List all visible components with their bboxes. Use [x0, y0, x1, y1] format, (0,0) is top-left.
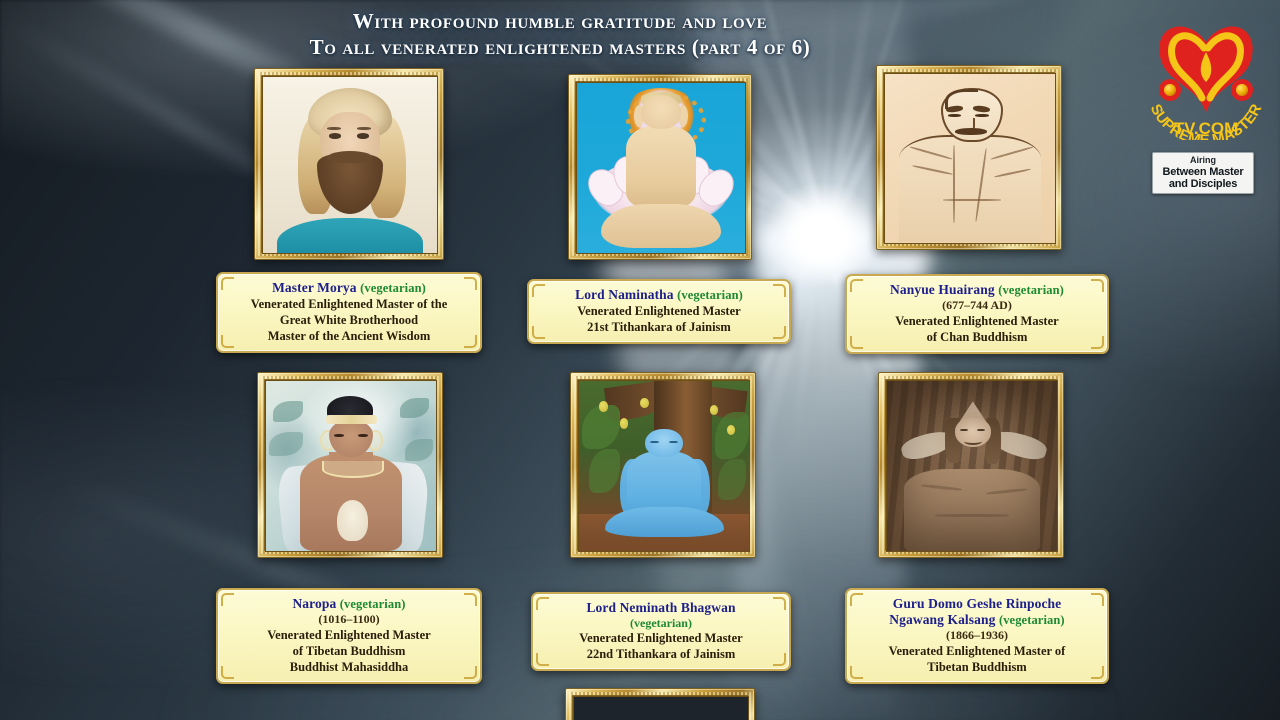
master-desc-line: Venerated Enlightened Master — [853, 314, 1101, 329]
master-desc-line: Tibetan Buddhism — [853, 660, 1101, 675]
partial-portrait-frame-next-row — [565, 688, 755, 720]
portrait-guru-domo-geshe-rinpoche — [886, 380, 1058, 552]
airing-show-line-2: and Disciples — [1155, 178, 1251, 190]
master-card-lord-naminatha[interactable] — [568, 74, 752, 260]
vegetarian-tag: (vegetarian) — [539, 616, 783, 630]
master-desc-line: Venerated Enlightened Master — [535, 304, 783, 319]
caption-plaque-nanyue-huairang: Nanyue Huairang (vegetarian) (677–744 AD… — [845, 274, 1109, 354]
master-card-naropa[interactable] — [257, 372, 443, 558]
portrait-frame-lord-naminatha — [568, 74, 752, 260]
caption-plaque-lord-neminath-bhagwan: Lord Neminath Bhagwan (vegetarian) Vener… — [531, 592, 791, 671]
master-name-lord-naminatha: Lord Naminatha (vegetarian) — [535, 287, 783, 303]
master-card-lord-neminath-bhagwan[interactable] — [570, 372, 756, 558]
master-desc-line: Venerated Enlightened Master of the — [224, 297, 474, 312]
master-card-nanyue-huairang[interactable] — [876, 65, 1062, 250]
master-card-guru-domo-geshe-rinpoche[interactable] — [878, 372, 1064, 558]
master-desc-line: Venerated Enlightened Master of — [853, 644, 1101, 659]
master-name-master-morya: Master Morya (vegetarian) — [224, 280, 474, 296]
logo-domain-text: TV.COM — [1174, 119, 1239, 138]
airing-show-line-1: Between Master — [1155, 166, 1251, 178]
caption-plaque-guru-domo-geshe-rinpoche: Guru Domo Geshe Rinpoche Ngawang Kalsang… — [845, 588, 1109, 684]
caption-plaque-naropa: Naropa (vegetarian) (1016–1100) Venerate… — [216, 588, 482, 684]
master-dates: (1016–1100) — [224, 612, 474, 627]
airing-badge: Airing Between Master and Disciples — [1152, 152, 1254, 194]
master-desc-line: of Chan Buddhism — [853, 330, 1101, 345]
broadcast-screen: With profound humble gratitude and Love … — [0, 0, 1280, 720]
portrait-frame-naropa — [257, 372, 443, 558]
master-desc-line: Venerated Enlightened Master — [224, 628, 474, 643]
page-title: With profound humble gratitude and Love … — [0, 8, 1120, 60]
airing-label: Airing — [1155, 155, 1251, 166]
portrait-lord-neminath-bhagwan — [578, 380, 750, 552]
master-name-naropa: Naropa (vegetarian) — [224, 596, 474, 612]
master-dates: (1866–1936) — [853, 628, 1101, 643]
master-card-master-morya[interactable] — [254, 68, 444, 260]
vegetarian-tag: (vegetarian) — [340, 597, 406, 611]
master-name-guru-domo-geshe-rinpoche: Guru Domo Geshe Rinpoche — [853, 596, 1101, 612]
portrait-master-morya — [262, 76, 438, 254]
caption-plaque-lord-naminatha: Lord Naminatha (vegetarian) Venerated En… — [527, 279, 791, 344]
title-line-2: to all venerated enlightened Masters (Pa… — [0, 34, 1120, 60]
master-desc-line: Venerated Enlightened Master — [539, 631, 783, 646]
vegetarian-tag: (vegetarian) — [360, 281, 426, 295]
master-desc-line: Buddhist Mahasiddha — [224, 660, 474, 675]
master-desc-line: of Tibetan Buddhism — [224, 644, 474, 659]
portrait-naropa — [265, 380, 437, 552]
master-desc-line: 21st Tithankara of Jainism — [535, 320, 783, 335]
vegetarian-tag: (vegetarian) — [998, 283, 1064, 297]
master-desc-line: Master of the Ancient Wisdom — [224, 329, 474, 344]
title-line-1: With profound humble gratitude and Love — [0, 8, 1120, 34]
portrait-frame-guru-domo-geshe-rinpoche — [878, 372, 1064, 558]
portrait-nanyue-huairang — [884, 73, 1056, 244]
master-desc-line: 22nd Tithankara of Jainism — [539, 647, 783, 662]
master-dates: (677–744 AD) — [853, 298, 1101, 313]
vegetarian-tag: (vegetarian) — [999, 613, 1065, 627]
portrait-frame-master-morya — [254, 68, 444, 260]
portrait-lord-naminatha — [576, 82, 746, 254]
supreme-master-tv-logo[interactable]: SUPREME MASTER TV.COM — [1142, 12, 1270, 140]
master-name-line-2: Ngawang Kalsang (vegetarian) — [853, 612, 1101, 628]
masters-grid: Master Morya (vegetarian) Venerated Enli… — [0, 0, 1120, 720]
portrait-frame-lord-neminath-bhagwan — [570, 372, 756, 558]
caption-plaque-master-morya: Master Morya (vegetarian) Venerated Enli… — [216, 272, 482, 353]
vegetarian-tag: (vegetarian) — [677, 288, 743, 302]
master-desc-line: Great White Brotherhood — [224, 313, 474, 328]
master-name-lord-neminath-bhagwan: Lord Neminath Bhagwan — [539, 600, 783, 616]
portrait-frame-nanyue-huairang — [876, 65, 1062, 250]
master-name-nanyue-huairang: Nanyue Huairang (vegetarian) — [853, 282, 1101, 298]
